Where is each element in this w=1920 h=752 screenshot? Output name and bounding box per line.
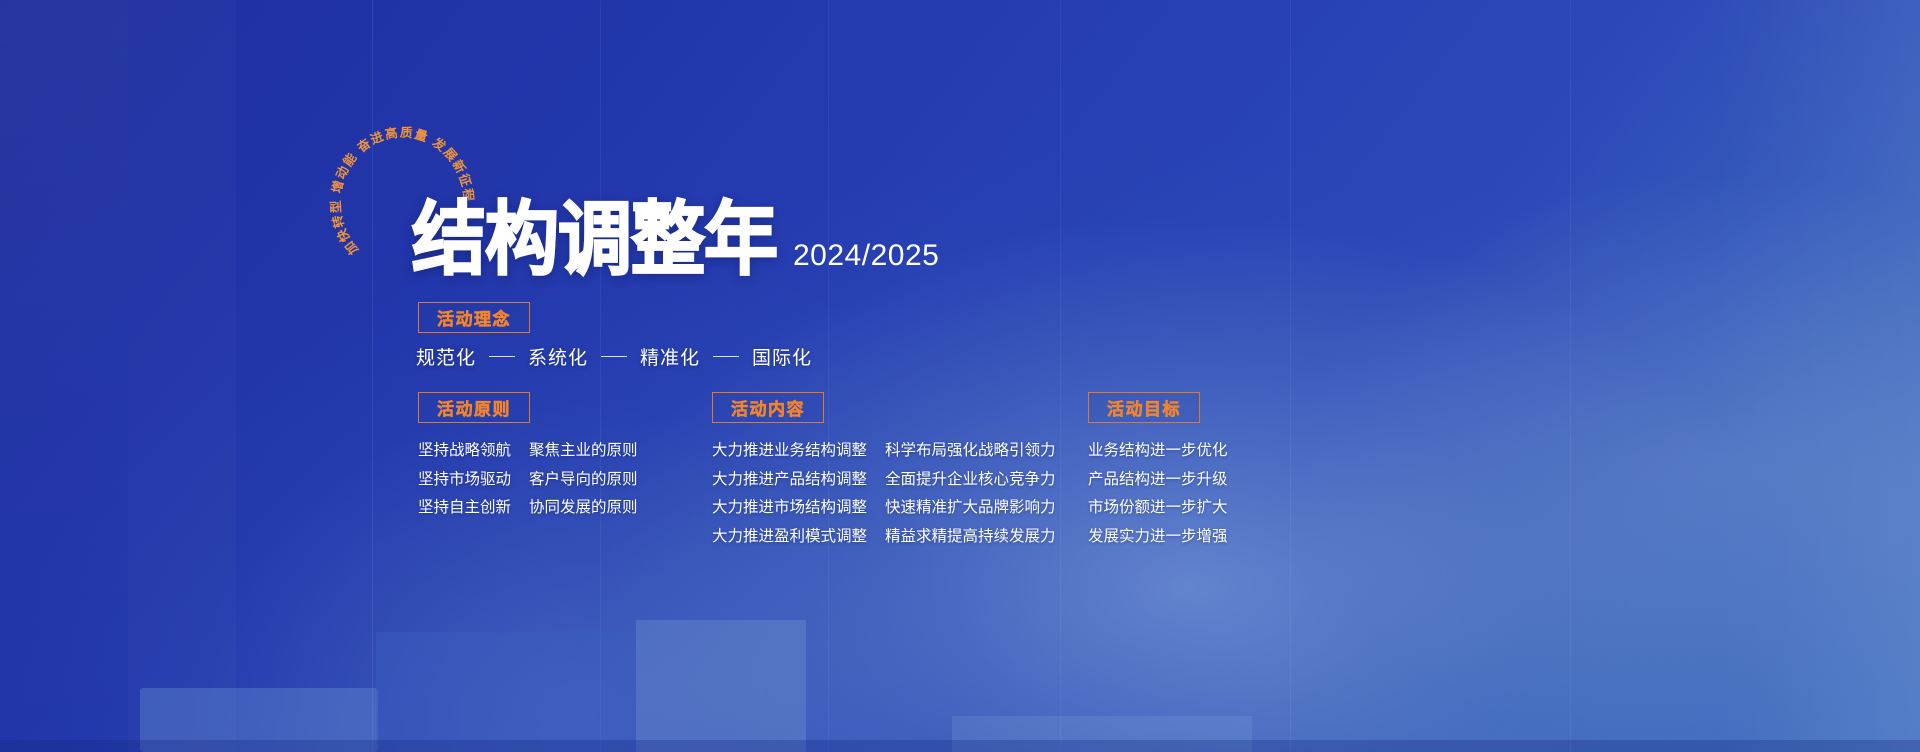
decor-stripe [1060, 0, 1061, 752]
list-item: 坚持市场驱动 客户导向的原则 [418, 468, 638, 492]
list-item: 坚持自主创新 协同发展的原则 [418, 496, 638, 520]
section-activity-principles: 活动原则 坚持战略领航 聚焦主业的原则 坚持市场驱动 客户导向的原则 坚持自主创… [418, 392, 638, 520]
list-item: 产品结构进一步升级 [1088, 468, 1228, 492]
concept-item-3: 精准化 [640, 343, 700, 370]
list-item: 业务结构进一步优化 [1088, 439, 1228, 463]
decor-block [0, 740, 1920, 752]
decor-stripe [128, 0, 236, 752]
list-item: 坚持战略领航 聚焦主业的原则 [418, 439, 638, 463]
badge-wrap: 活动内容 [712, 392, 1056, 423]
section-activity-goals: 活动目标 业务结构进一步优化 产品结构进一步升级 市场份额进一步扩大 发展实力进… [1088, 392, 1228, 548]
row-cell-left: 产品结构进一步升级 [1088, 468, 1228, 492]
badge-wrap: 活动原则 [418, 392, 638, 423]
list-item: 大力推进产品结构调整 全面提升企业核心竞争力 [712, 468, 1056, 492]
decor-stripe [1290, 0, 1291, 752]
badge-wrap: 活动目标 [1088, 392, 1228, 423]
row-cell-left: 坚持市场驱动 [418, 468, 511, 492]
row-cell-right: 聚焦主业的原则 [529, 439, 638, 463]
list-item: 发展实力进一步增强 [1088, 525, 1228, 549]
list-item: 市场份额进一步扩大 [1088, 496, 1228, 520]
row-cell-right: 快速精准扩大品牌影响力 [885, 496, 1056, 520]
row-cell-right: 科学布局强化战略引领力 [885, 439, 1056, 463]
badge-activity-principles[interactable]: 活动原则 [418, 392, 530, 423]
row-cell-right: 客户导向的原则 [529, 468, 638, 492]
concept-item-2: 系统化 [528, 343, 588, 370]
concept-separator-icon [713, 356, 739, 358]
row-cell-left: 坚持战略领航 [418, 439, 511, 463]
row-cell-left: 市场份额进一步扩大 [1088, 496, 1228, 520]
page-title: 结构调整年 [412, 202, 777, 279]
decor-stripe [372, 0, 373, 752]
section-activity-content: 活动内容 大力推进业务结构调整 科学布局强化战略引领力 大力推进产品结构调整 全… [712, 392, 1056, 548]
content-row-list: 大力推进业务结构调整 科学布局强化战略引领力 大力推进产品结构调整 全面提升企业… [712, 439, 1056, 548]
decor-block [636, 620, 806, 752]
row-cell-left: 大力推进业务结构调整 [712, 439, 867, 463]
badge-activity-concept[interactable]: 活动理念 [418, 302, 530, 333]
concept-item-list: 规范化 系统化 精准化 国际化 [416, 343, 812, 370]
concept-item-1: 规范化 [416, 343, 476, 370]
row-cell-left: 发展实力进一步增强 [1088, 525, 1228, 549]
row-cell-left: 大力推进产品结构调整 [712, 468, 867, 492]
concept-item-4: 国际化 [752, 343, 812, 370]
decor-stripe [0, 0, 128, 752]
decor-stripe [1570, 0, 1571, 752]
concept-separator-icon [601, 356, 627, 358]
row-cell-left: 大力推进盈利模式调整 [712, 525, 867, 549]
row-cell-right: 全面提升企业核心竞争力 [885, 468, 1056, 492]
row-cell-left: 业务结构进一步优化 [1088, 439, 1228, 463]
row-cell-right: 精益求精提高持续发展力 [885, 525, 1056, 549]
banner-root: 加快转型 增动能 奋进高质量 发展新征程 结构调整年 2024/2025 活动理… [0, 0, 1920, 752]
decor-block [376, 632, 636, 752]
decor-stripe [828, 0, 829, 752]
row-cell-left: 大力推进市场结构调整 [712, 496, 867, 520]
badge-activity-content[interactable]: 活动内容 [712, 392, 824, 423]
badge-activity-goals[interactable]: 活动目标 [1088, 392, 1200, 423]
row-cell-right: 协同发展的原则 [529, 496, 638, 520]
list-item: 大力推进盈利模式调整 精益求精提高持续发展力 [712, 525, 1056, 549]
list-item: 大力推进业务结构调整 科学布局强化战略引领力 [712, 439, 1056, 463]
list-item: 大力推进市场结构调整 快速精准扩大品牌影响力 [712, 496, 1056, 520]
goal-row-list: 业务结构进一步优化 产品结构进一步升级 市场份额进一步扩大 发展实力进一步增强 [1088, 439, 1228, 548]
principle-row-list: 坚持战略领航 聚焦主业的原则 坚持市场驱动 客户导向的原则 坚持自主创新 协同发… [418, 439, 638, 520]
concept-separator-icon [489, 356, 515, 358]
decor-stripe [1712, 0, 1920, 752]
year-label: 2024/2025 [793, 239, 939, 279]
title-row: 结构调整年 2024/2025 [412, 208, 939, 279]
row-cell-left: 坚持自主创新 [418, 496, 511, 520]
